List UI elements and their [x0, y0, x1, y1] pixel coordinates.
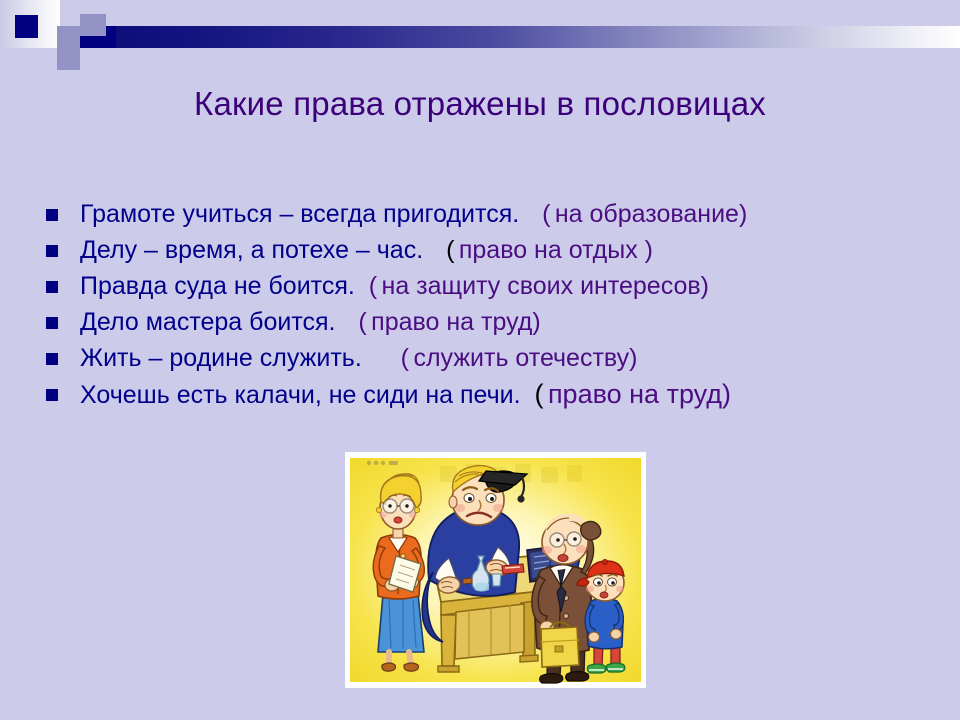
header-accent-square-middle: [57, 26, 80, 48]
list-item: Жить – родине служить. ( служить отечест…: [44, 340, 944, 376]
bullet-square-icon: [46, 209, 58, 221]
list-item: Правда суда не боится. ( на защиту своих…: [44, 268, 944, 304]
proverb-text: Дело мастера боится.: [80, 308, 335, 336]
proverb-text: Хочешь есть калачи, не сиди на печи.: [80, 381, 521, 409]
proverb-text: Грамоте учиться – всегда пригодится.: [80, 200, 519, 228]
proverb-text: Жить – родине служить.: [80, 344, 362, 372]
right-annotation-paren: (: [446, 236, 454, 264]
proverb-text: Правда суда не боится.: [80, 272, 355, 300]
proverb-text: Делу – время, а потехе – час.: [80, 236, 423, 264]
header-navy-square: [15, 15, 38, 38]
right-annotation-paren: (: [358, 308, 366, 336]
list-item: Дело мастера боится. ( право на труд): [44, 304, 944, 340]
bullet-square-icon: [46, 245, 58, 257]
header-accent-square-lower: [57, 48, 80, 70]
list-item: Грамоте учиться – всегда пригодится. ( н…: [44, 196, 944, 232]
courtroom-cartoon-illustration: [345, 452, 646, 688]
right-annotation: право на отдых ): [459, 236, 653, 264]
bullet-square-icon: [46, 389, 58, 401]
header-accent-square-top: [80, 14, 106, 36]
bullet-square-icon: [46, 353, 58, 365]
right-annotation-paren: (: [534, 379, 543, 409]
proverb-list: Грамоте учиться – всегда пригодится. ( н…: [44, 196, 944, 412]
header-gradient-bar: [57, 26, 960, 48]
right-annotation-paren: (: [369, 272, 377, 300]
right-annotation: на образование): [555, 200, 747, 228]
bullet-square-icon: [46, 281, 58, 293]
right-annotation: служить отечеству): [413, 344, 637, 372]
page-title: Какие права отражены в пословицах: [0, 85, 960, 123]
list-item: Хочешь есть калачи, не сиди на печи. ( п…: [44, 376, 944, 412]
bullet-square-icon: [46, 317, 58, 329]
right-annotation: право на труд): [371, 308, 541, 336]
right-annotation: право на труд): [548, 379, 731, 409]
right-annotation-paren: (: [401, 344, 409, 372]
right-annotation: на защиту своих интересов): [382, 272, 710, 300]
right-annotation-paren: (: [542, 200, 550, 228]
list-item: Делу – время, а потехе – час. ( право на…: [44, 232, 944, 268]
slide-header-decoration: [0, 0, 960, 62]
